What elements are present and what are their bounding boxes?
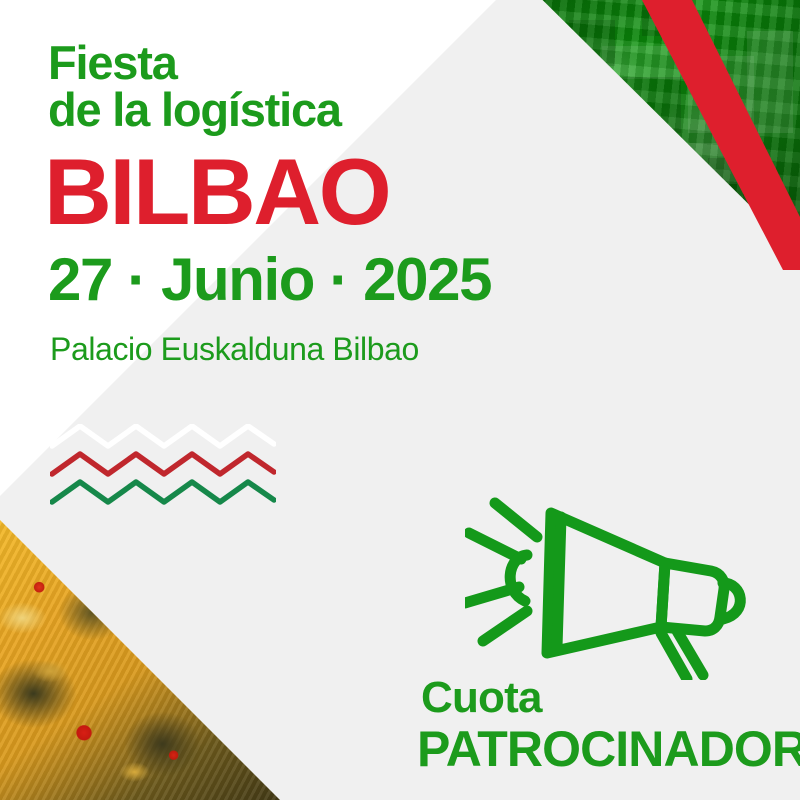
event-date: 27 · Junio · 2025 bbox=[48, 250, 668, 310]
megaphone-icon bbox=[465, 495, 765, 680]
poster-canvas: Fiesta de la logística BILBAO 27 · Junio… bbox=[0, 0, 800, 800]
event-venue: Palacio Euskalduna Bilbao bbox=[50, 332, 668, 367]
megaphone-mouth-bar bbox=[557, 517, 561, 647]
cuota-block: Cuota PATROCINADOR bbox=[417, 676, 787, 774]
megaphone-barrel bbox=[661, 563, 724, 631]
headline-block: Fiesta de la logística BILBAO 27 · Junio… bbox=[48, 40, 668, 367]
megaphone-ray-2 bbox=[469, 533, 521, 559]
zigzag-white bbox=[52, 426, 274, 446]
event-city: BILBAO bbox=[44, 145, 668, 238]
cuota-label: Cuota bbox=[421, 676, 787, 720]
zigzag-red bbox=[52, 454, 274, 474]
event-kicker: Fiesta de la logística bbox=[48, 40, 668, 133]
megaphone-ray-4 bbox=[483, 611, 527, 641]
zigzag-decoration bbox=[50, 424, 276, 506]
megaphone-ray-1 bbox=[495, 503, 537, 537]
zigzag-green bbox=[52, 482, 274, 502]
cuota-type: PATROCINADOR bbox=[417, 724, 787, 774]
